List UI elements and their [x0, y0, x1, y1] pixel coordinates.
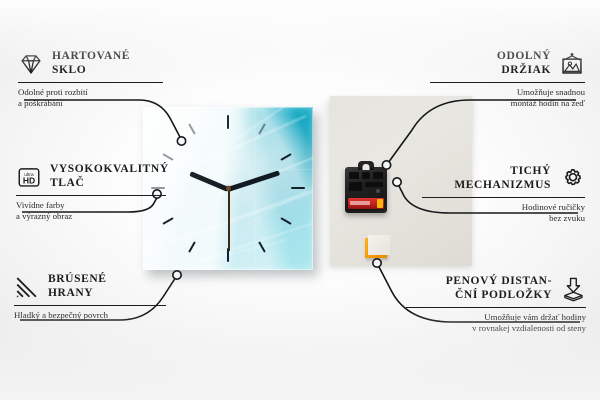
connector-node-right-2: [393, 178, 401, 186]
connector-node-left-1: [177, 137, 185, 145]
feature-desc-line1: Umožňuje vám držať hodiny: [484, 312, 586, 322]
connector-node-right-1: [382, 161, 390, 169]
feature-desc-line2: a poškrábání: [18, 98, 63, 108]
diamond-icon: [18, 51, 44, 77]
feature-desc-line1: Vivídne farby: [16, 200, 65, 210]
feature-title-line1: ODOLNÝ: [497, 50, 551, 62]
connector-node-right-3: [373, 259, 381, 267]
feature-title-line2: HRANY: [48, 287, 93, 299]
feature-durable-hanger[interactable]: ODOLNÝ DRŽIAK Umožňuje snadnou montáž ho…: [420, 50, 585, 109]
feature-desc-line1: Hladký a bezpečný povrch: [14, 310, 108, 320]
feature-divider: [422, 197, 585, 198]
gear-icon: [559, 166, 585, 192]
feature-desc-line1: Odolné proti rozbití: [18, 87, 88, 97]
feature-title-line2: ČNÍ PODLOŽKY: [455, 289, 552, 301]
foam-spacer-icon: [560, 276, 586, 302]
feature-desc-line1: Hodinové ručičky: [522, 202, 585, 212]
feature-tempered-glass[interactable]: HARTOVANÉ SKLO Odolné proti rozbití a po…: [18, 50, 178, 109]
feature-silent-mechanism[interactable]: TICHÝ MECHANIZMUS Hodinové ručičky bez z…: [412, 165, 585, 224]
feature-title-line1: PENOVÝ DISTAN-: [446, 275, 552, 287]
picture-hanger-icon: [559, 51, 585, 77]
feature-high-quality-print[interactable]: ultra HD VYSOKOKVALITNÝ TLAČ Vivídne far…: [16, 163, 181, 222]
feature-desc-line2: v rovnakej vzdialenosti od steny: [472, 323, 586, 333]
feature-foam-spacers[interactable]: PENOVÝ DISTAN- ČNÍ PODLOŽKY Umožňuje vám…: [396, 275, 586, 334]
feature-divider: [406, 307, 586, 308]
feature-divider: [14, 305, 166, 306]
feature-title-line2: TLAČ: [50, 177, 84, 189]
feature-divider: [16, 195, 166, 196]
feature-title-line2: SKLO: [52, 64, 86, 76]
feature-title-line1: VYSOKOKVALITNÝ: [50, 163, 169, 175]
ultra-hd-icon: ultra HD: [16, 164, 42, 190]
wire-right-1: [388, 100, 576, 163]
feature-desc-line2: montáž hodin na zeď: [511, 98, 585, 108]
feature-desc-line1: Umožňuje snadnou: [517, 87, 585, 97]
feature-title-line1: TICHÝ: [510, 165, 551, 177]
feature-title-line1: HARTOVANÉ: [52, 50, 130, 62]
feature-bevelled-edges[interactable]: BRÚSENÉ HRANY Hladký a bezpečný povrch: [14, 273, 184, 321]
feature-title-line2: MECHANIZMUS: [454, 179, 551, 191]
infographic-canvas: HARTOVANÉ SKLO Odolné proti rozbití a po…: [0, 0, 600, 400]
feature-divider: [430, 82, 585, 83]
feature-desc-line2: bez zvuku: [549, 213, 585, 223]
bevelled-edge-icon: [14, 274, 40, 300]
svg-text:HD: HD: [23, 175, 35, 185]
feature-title-line2: DRŽIAK: [501, 64, 551, 76]
feature-divider: [18, 82, 163, 83]
feature-title-line1: BRÚSENÉ: [48, 273, 107, 285]
feature-desc-line2: a výrazný obraz: [16, 211, 72, 221]
